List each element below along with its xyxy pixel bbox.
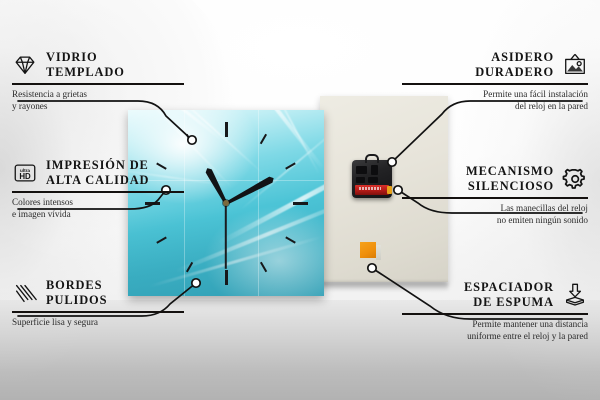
hour-tick [225, 270, 228, 285]
infographic-canvas: VIDRIO TEMPLADO Resistencia a grietas y … [0, 0, 600, 400]
feature-title-line2: PULIDOS [46, 293, 107, 308]
movement-hanger-hook [365, 154, 379, 163]
hands-center-cap [223, 200, 229, 206]
feature-impresion-alta-calidad: ultra HD IMPRESIÓN DE ALTA CALIDAD Color… [12, 158, 184, 221]
foam-spacer [360, 242, 376, 258]
glass-pane-line [184, 110, 185, 296]
second-hand [225, 203, 227, 269]
foam-spacer-icon [562, 282, 588, 308]
ultra-hd-icon: ultra HD [12, 160, 38, 186]
polished-edges-icon [12, 280, 38, 306]
battery-terminal [387, 186, 392, 194]
hour-tick [225, 122, 228, 137]
feature-mecanismo-silencioso: MECANISMO SILENCIOSO Las manecillas del … [402, 164, 588, 227]
movement-detail [356, 177, 365, 183]
feature-title-line1: ASIDERO [475, 50, 554, 65]
divider [12, 311, 184, 313]
feature-description: Resistencia a grietas y rayones [12, 88, 184, 113]
feature-title-line1: VIDRIO [46, 50, 125, 65]
divider [12, 83, 184, 85]
diamond-icon [12, 52, 38, 78]
svg-text:HD: HD [19, 172, 31, 181]
divider [402, 313, 588, 315]
quartz-movement [352, 160, 392, 198]
feature-title-line2: DURADERO [475, 65, 554, 80]
wall-hanger-frame-icon [562, 52, 588, 78]
aa-battery [355, 185, 389, 195]
foam-spacer-side [376, 245, 381, 260]
feature-description: Colores intensos e imagen vívida [12, 196, 184, 221]
feature-title-line2: TEMPLADO [46, 65, 125, 80]
divider [402, 197, 588, 199]
movement-detail [368, 177, 378, 183]
movement-detail [371, 165, 378, 175]
feature-title-line1: ESPACIADOR [464, 280, 554, 295]
feature-title-line2: DE ESPUMA [464, 295, 554, 310]
feature-bordes-pulidos: BORDES PULIDOS Superficie lisa y segura [12, 278, 184, 328]
feature-title-line2: ALTA CALIDAD [46, 173, 149, 188]
divider [402, 83, 588, 85]
feature-espaciador-de-espuma: ESPACIADOR DE ESPUMA Permite mantener un… [402, 280, 588, 343]
gear-icon [562, 166, 588, 192]
feature-vidrio-templado: VIDRIO TEMPLADO Resistencia a grietas y … [12, 50, 184, 113]
divider [12, 191, 184, 193]
feature-title-line1: IMPRESIÓN DE [46, 158, 149, 173]
battery-label [359, 187, 381, 190]
feature-description: Superficie lisa y segura [12, 316, 184, 328]
feature-description: Permite una fácil instalación del reloj … [402, 88, 588, 113]
feature-title-line1: MECANISMO [466, 164, 554, 179]
feature-title-line1: BORDES [46, 278, 107, 293]
feature-title-line2: SILENCIOSO [466, 179, 554, 194]
feature-asidero-duradero: ASIDERO DURADERO Permite una fácil insta… [402, 50, 588, 113]
feature-description: Permite mantener una distancia uniforme … [402, 318, 588, 343]
glass-pane-line [258, 110, 259, 296]
hour-tick [293, 202, 308, 205]
feature-description: Las manecillas del reloj no emiten ningú… [402, 202, 588, 227]
movement-detail [356, 166, 367, 174]
